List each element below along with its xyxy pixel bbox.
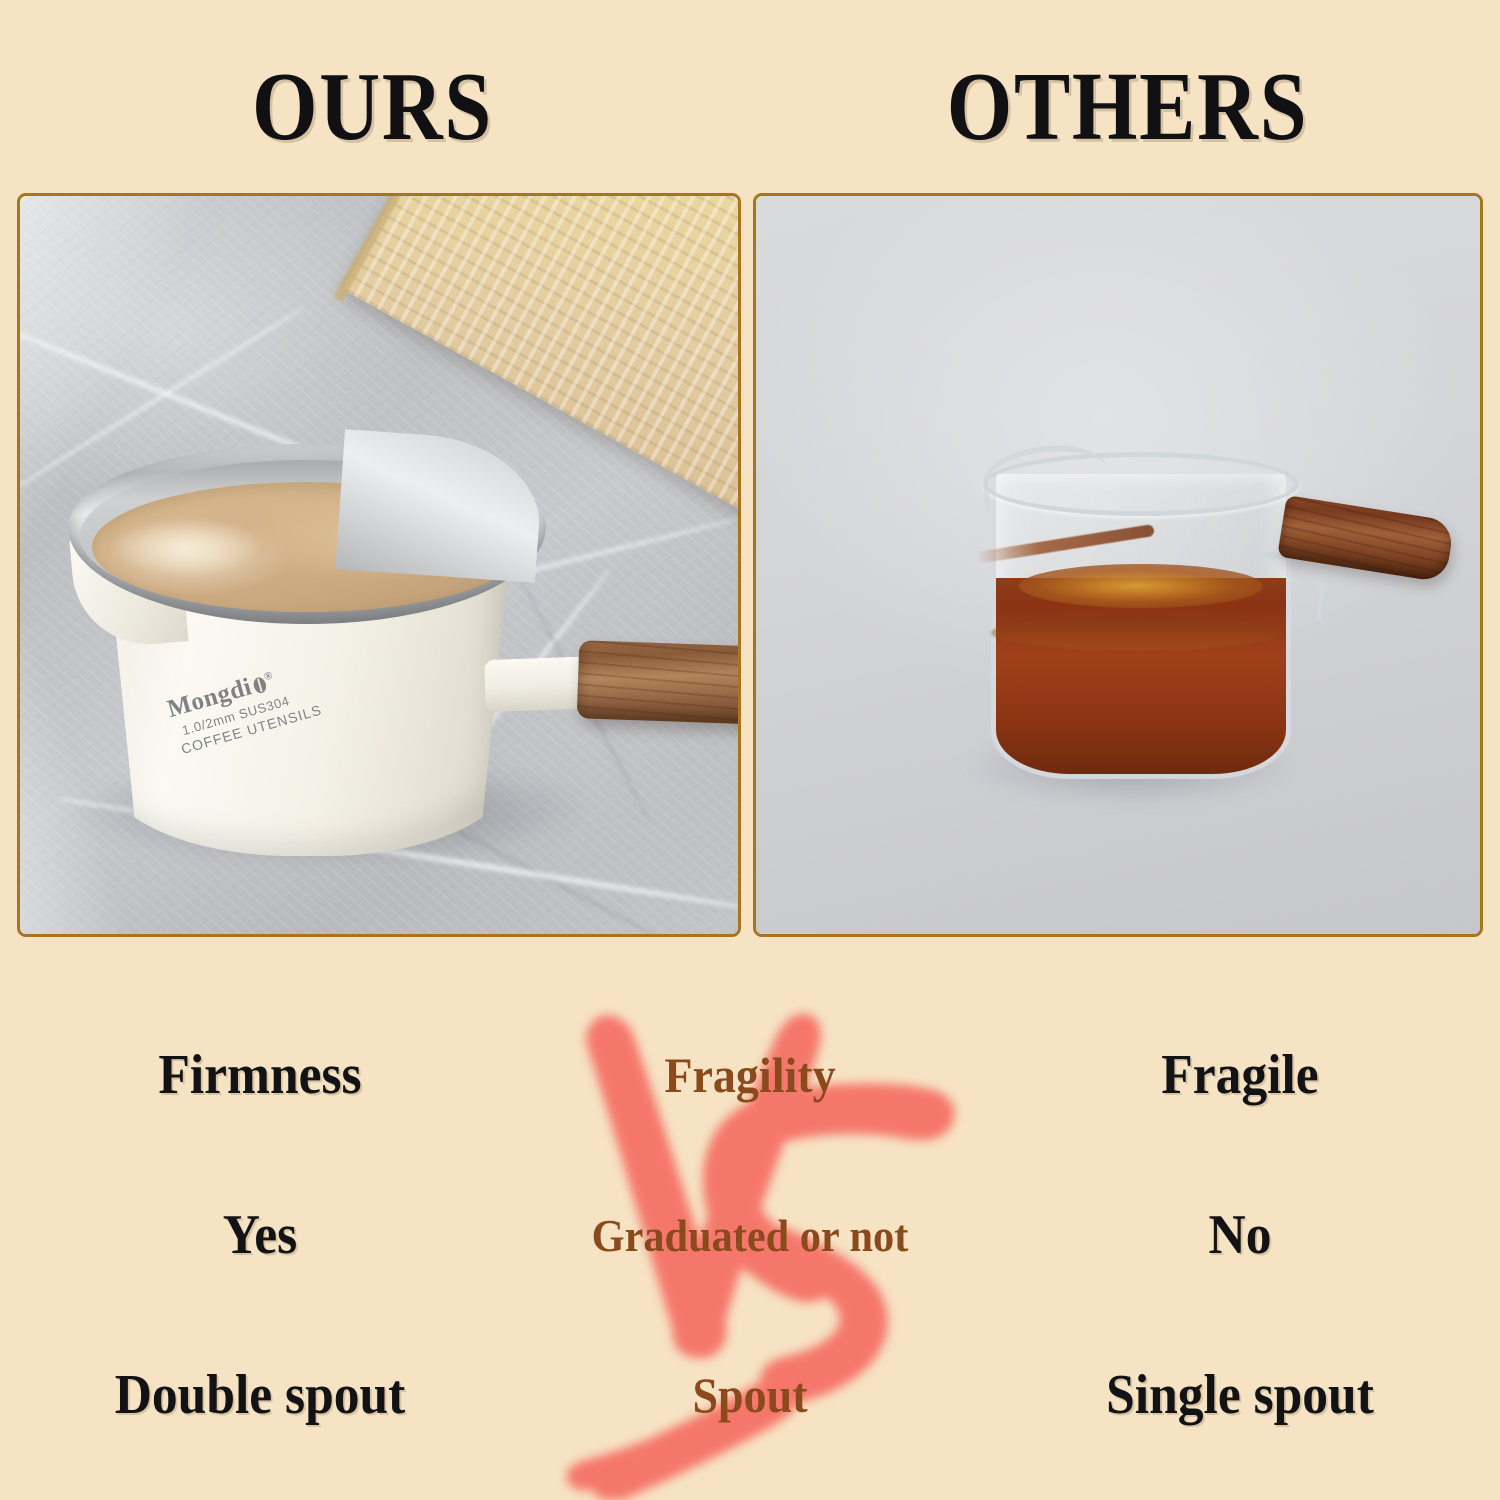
row-1-others: Fragile	[1001, 995, 1479, 1155]
pitcher-spout-right	[335, 429, 544, 583]
glass-single-spout	[981, 442, 1110, 513]
comparison-table: Firmness Fragility Fragile Yes Graduated…	[0, 995, 1500, 1475]
row-2-others: No	[1001, 1155, 1479, 1315]
row-2-feature: Graduated or not	[529, 1155, 971, 1315]
row-2-ours: Yes	[21, 1155, 499, 1315]
row-1-feature: Fragility	[529, 995, 971, 1155]
comparison-infographic: OURS OTHERS	[0, 0, 1500, 1500]
coffee-liquid	[996, 578, 1286, 774]
comparison-row: Firmness Fragility Fragile	[0, 995, 1500, 1155]
row-1-ours: Firmness	[21, 995, 499, 1155]
comparison-row: Double spout Spout Single spout	[0, 1315, 1500, 1475]
product-photo-ours: Mongdi® 1.0/2mm SUS304 COFFEE UTENSILS	[17, 193, 741, 937]
photo-ours-canvas: Mongdi® 1.0/2mm SUS304 COFFEE UTENSILS	[20, 196, 738, 934]
heading-others: OTHERS	[807, 52, 1448, 162]
glass-espresso-pitcher	[931, 426, 1411, 816]
row-3-feature: Spout	[529, 1315, 971, 1475]
row-3-others: Single spout	[1001, 1315, 1479, 1475]
pitcher-wooden-handle	[577, 640, 738, 726]
crema-foam-highlight	[110, 518, 260, 576]
photo-others-canvas	[756, 196, 1480, 934]
headings-row: OURS OTHERS	[0, 52, 1500, 162]
row-3-ours: Double spout	[21, 1315, 499, 1475]
product-photo-others	[753, 193, 1483, 937]
comparison-row: Yes Graduated or not No	[0, 1155, 1500, 1315]
white-espresso-pitcher: Mongdi® 1.0/2mm SUS304 COFFEE UTENSILS	[40, 426, 690, 896]
liquid-meniscus	[991, 616, 1281, 650]
heading-ours: OURS	[52, 52, 693, 162]
